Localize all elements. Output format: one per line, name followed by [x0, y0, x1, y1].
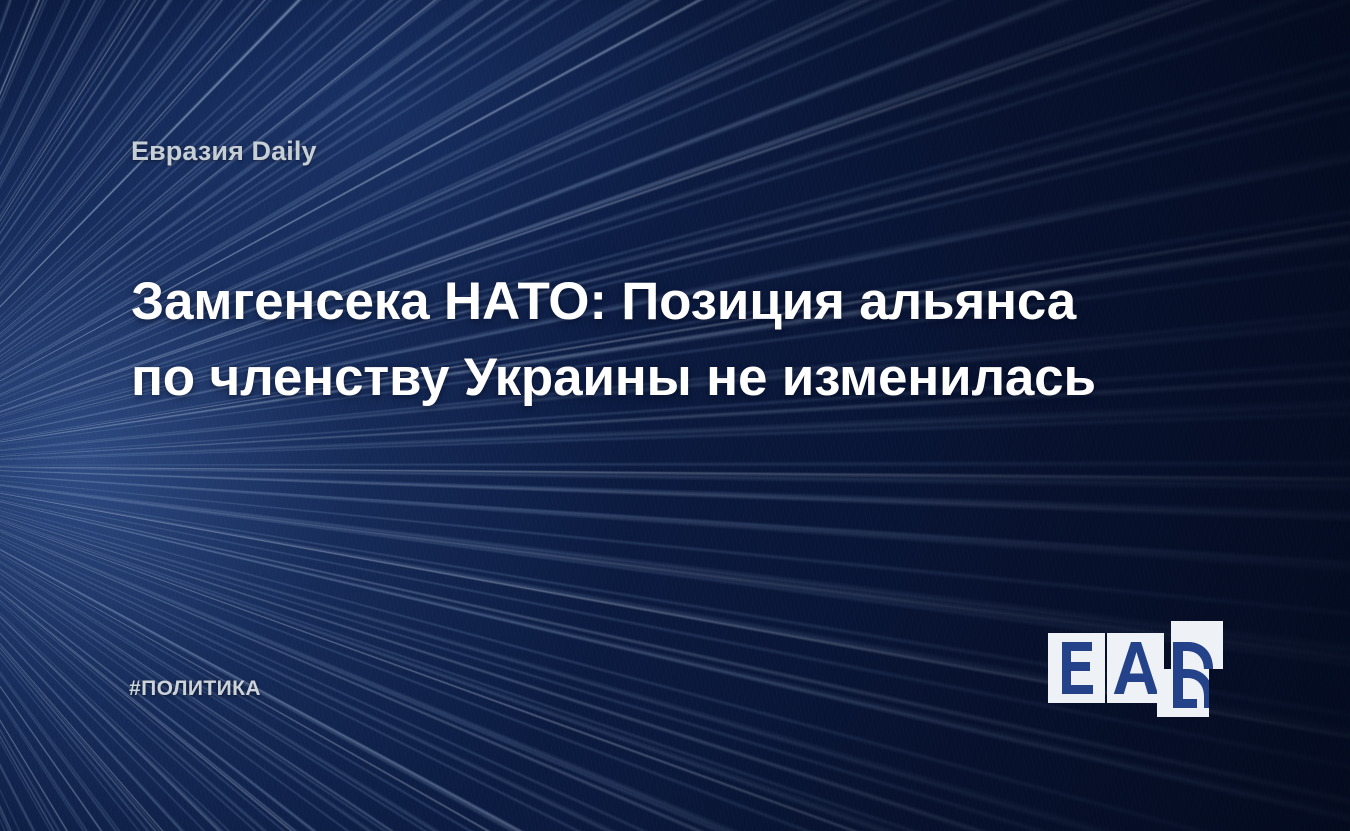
headline-line-1: Замгенсека НАТО: Позиция альянса — [131, 264, 1161, 340]
logo-tile-d-lower — [1157, 669, 1209, 717]
headline-line-2: по членству Украины не изменилась — [131, 340, 1161, 416]
logo-letter-d-lower-glyph — [1157, 669, 1209, 717]
logo-letter-d-upper-glyph — [1171, 621, 1223, 669]
card-content: Евразия Daily Замгенсека НАТО: Позиция а… — [0, 0, 1350, 831]
category-hashtag: #ПОЛИТИКА — [129, 677, 261, 701]
brand-wordmark: Евразия Daily — [131, 136, 317, 167]
logo-letter-e-glyph — [1048, 633, 1105, 703]
headline: Замгенсека НАТО: Позиция альянса по член… — [131, 264, 1161, 416]
news-card: Евразия Daily Замгенсека НАТО: Позиция а… — [0, 0, 1350, 831]
logo-tile-e — [1048, 633, 1105, 703]
logo-letter-a-glyph — [1107, 633, 1164, 703]
logo-tile-a — [1107, 633, 1164, 703]
eadaily-logo — [1047, 621, 1223, 717]
logo-tile-d-upper — [1171, 621, 1223, 669]
